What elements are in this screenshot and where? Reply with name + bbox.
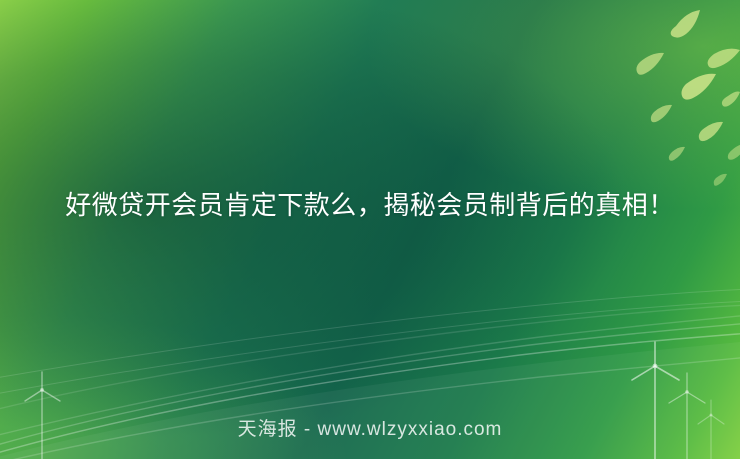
cover-image: 好微贷开会员肯定下款么，揭秘会员制背后的真相！ 天海报 - www.wlzyxx… xyxy=(0,0,740,459)
page-title: 好微贷开会员肯定下款么，揭秘会员制背后的真相！ xyxy=(50,182,690,228)
watermark-text: 天海报 - www.wlzyxxiao.com xyxy=(0,414,740,441)
windmill-icon xyxy=(615,340,725,459)
